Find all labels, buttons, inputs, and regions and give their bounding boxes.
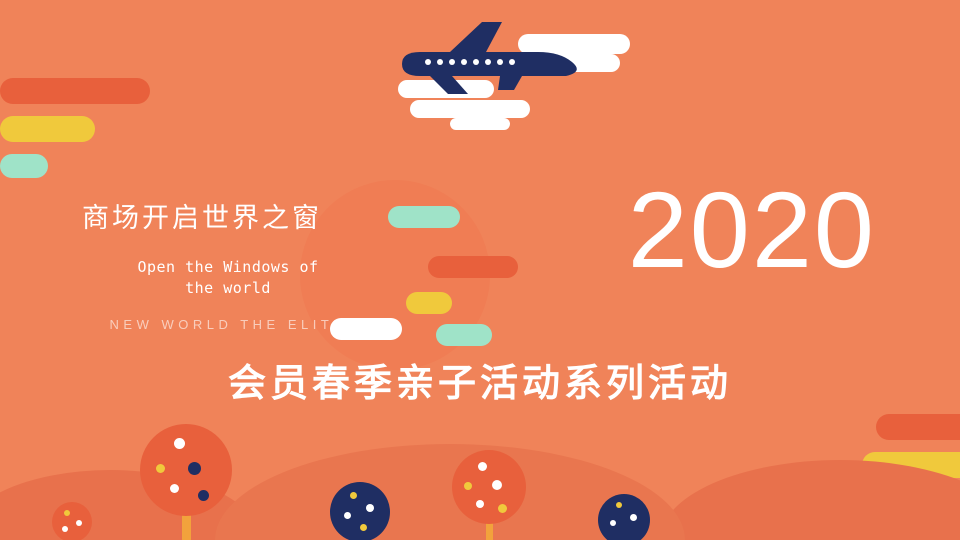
english-tagline: NEW WORLD THE ELITE (78, 317, 378, 332)
pill-mint-left (0, 154, 48, 178)
tree-shape (52, 502, 92, 540)
english-subtitle-line1: Open the Windows of (78, 257, 378, 278)
pill-orange-top-left (0, 78, 150, 104)
tree-shape (140, 424, 232, 540)
pill-mint-center-top (388, 206, 460, 228)
slide-canvas: 商场开启世界之窗 Open the Windows of the world N… (0, 0, 960, 540)
pill-orange-center (428, 256, 518, 278)
tree-shape (330, 482, 390, 540)
tree-shape (452, 450, 526, 540)
pill-yellow-left (0, 116, 95, 142)
subtitle-block: 商场开启世界之窗 Open the Windows of the world N… (78, 196, 378, 332)
hill-right (660, 460, 960, 540)
chinese-subtitle: 商场开启世界之窗 (82, 196, 378, 235)
year-text: 2020 (628, 176, 876, 284)
english-subtitle-line2: the world (78, 278, 378, 299)
pill-yellow-center (406, 292, 452, 314)
pill-orange-bottom-right (876, 414, 960, 440)
tree-shape (598, 494, 650, 540)
page-title: 会员春季亲子活动系列活动 (0, 352, 960, 407)
airplane-icon (390, 20, 650, 130)
pill-mint-center-bottom (436, 324, 492, 346)
english-subtitle: Open the Windows of the world (78, 257, 378, 299)
